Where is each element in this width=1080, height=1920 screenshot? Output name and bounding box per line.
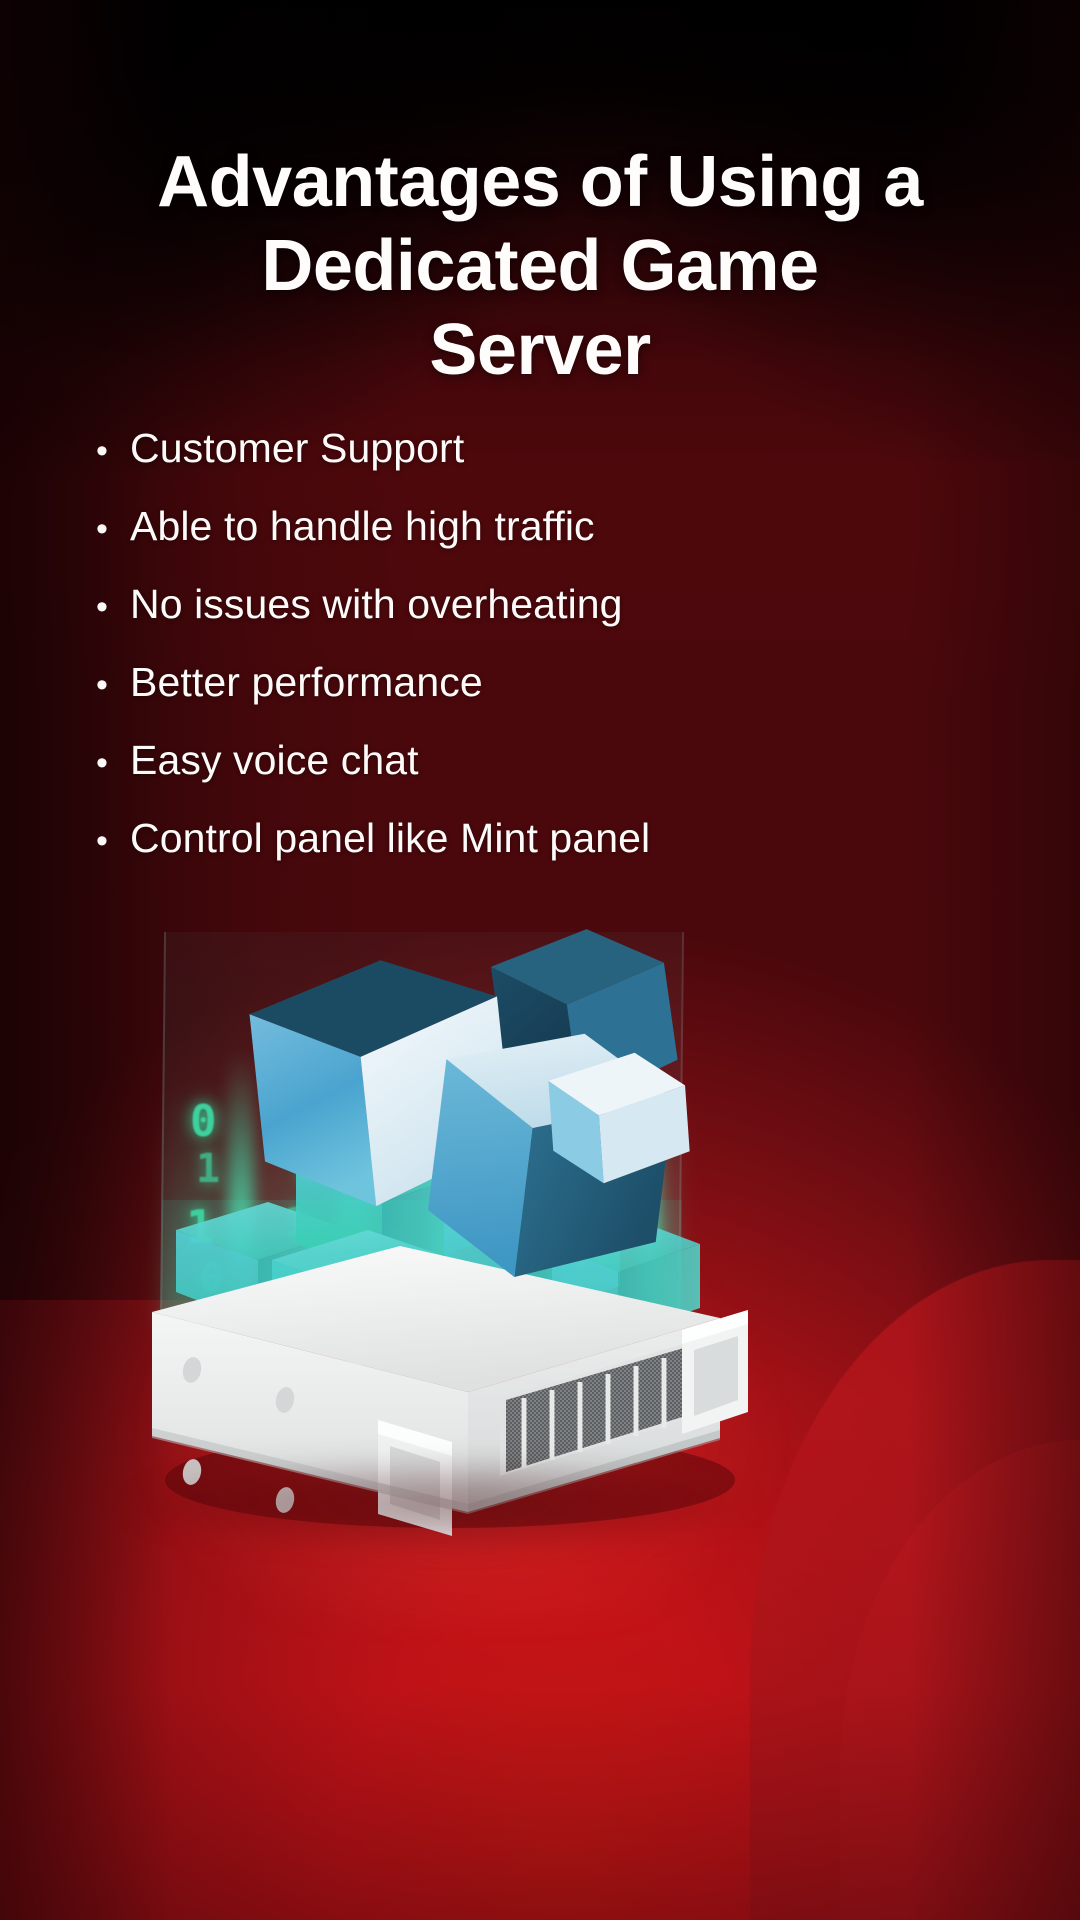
bullet-point-icon: • [92,512,130,546]
list-item-label: Better performance [130,658,483,706]
page-title: Advantages of Using a Dedicated Game Ser… [60,140,1020,392]
poster-content: Advantages of Using a Dedicated Game Ser… [0,0,1080,1920]
list-item: • No issues with overheating [92,580,952,658]
advantages-list: • Customer Support • Able to handle high… [92,424,952,892]
list-item: • Able to handle high traffic [92,502,952,580]
poster-canvas: 0 1 1 0 0 1 1 1 0 0 1 1 0 1 [0,0,1080,1920]
bullet-point-icon: • [92,824,130,858]
list-item-label: Customer Support [130,424,464,472]
list-item: • Easy voice chat [92,736,952,814]
bullet-point-icon: • [92,746,130,780]
list-item: • Control panel like Mint panel [92,814,952,892]
bullet-point-icon: • [92,590,130,624]
list-item: • Better performance [92,658,952,736]
list-item-label: Easy voice chat [130,736,419,784]
list-item-label: Control panel like Mint panel [130,814,650,862]
list-item: • Customer Support [92,424,952,502]
bullet-point-icon: • [92,434,130,468]
list-item-label: No issues with overheating [130,580,623,628]
bullet-point-icon: • [92,668,130,702]
list-item-label: Able to handle high traffic [130,502,595,550]
